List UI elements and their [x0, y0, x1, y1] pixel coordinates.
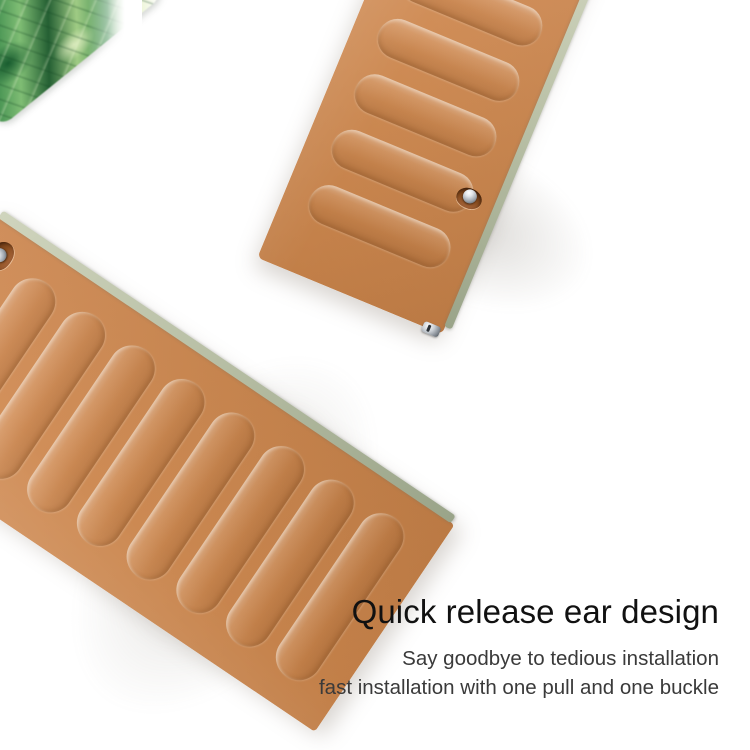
- quick-release-pin-ball: [461, 187, 479, 205]
- leaf-strap-crop-mask: [88, 0, 142, 160]
- quick-release-pin-ball: [0, 245, 9, 264]
- caption-subtitle-line-1: Say goodbye to tedious installation: [159, 644, 719, 673]
- caption-subtitle-line-2: fast installation with one pull and one …: [159, 673, 719, 702]
- caption-subtitle: Say goodbye to tedious installation fast…: [159, 644, 719, 702]
- caption-title: Quick release ear design: [159, 594, 719, 631]
- product-photo-canvas: Quick release ear design Say goodbye to …: [0, 0, 750, 750]
- caption-block: Quick release ear design Say goodbye to …: [159, 594, 719, 702]
